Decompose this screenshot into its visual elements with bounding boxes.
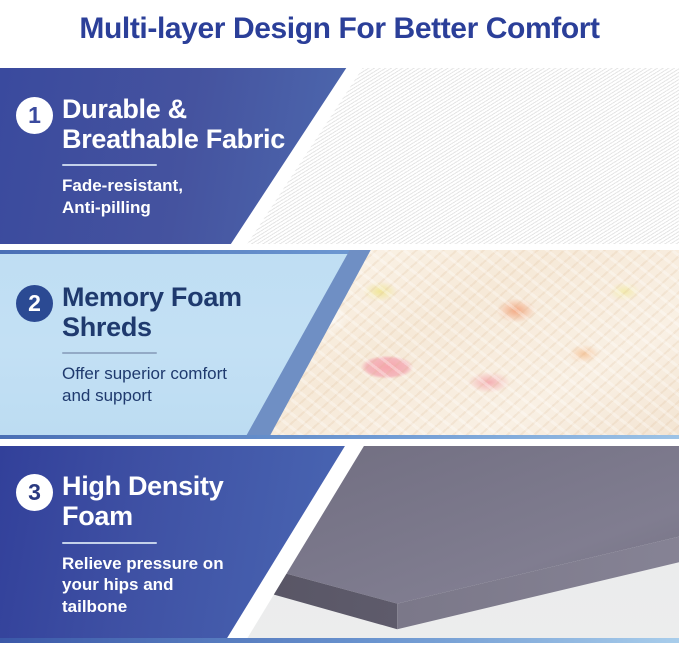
panel-3-subtext-line-3: tailbone [62, 596, 326, 618]
panel-3-text-block: 3 High Density Foam Relieve pressure on … [16, 446, 326, 643]
panel-2-heading-row: 2 Memory Foam Shreds [16, 282, 326, 342]
panel-3-divider [62, 542, 157, 544]
step-number-badge-2: 2 [16, 285, 53, 322]
panel-1-text-block: 1 Durable & Breathable Fabric Fade-resis… [16, 68, 326, 244]
feature-panel-2: 2 Memory Foam Shreds Offer superior comf… [0, 250, 679, 439]
panel-3-heading-line-2: Foam [62, 501, 223, 531]
panel-3-heading-row: 3 High Density Foam [16, 471, 326, 531]
panel-2-subtext-line-2: and support [62, 385, 326, 407]
panel-2-heading-line-1: Memory Foam [62, 282, 242, 312]
panel-3-bottom-rule [0, 638, 679, 643]
panel-2-heading-line-2: Shreds [62, 312, 242, 342]
panel-2-heading: Memory Foam Shreds [62, 282, 242, 342]
panel-3-heading: High Density Foam [62, 471, 223, 531]
panel-1-heading: Durable & Breathable Fabric [62, 94, 285, 154]
feature-panel-3: 3 High Density Foam Relieve pressure on … [0, 446, 679, 643]
feature-panel-1: 1 Durable & Breathable Fabric Fade-resis… [0, 68, 679, 244]
panel-1-heading-row: 1 Durable & Breathable Fabric [16, 94, 326, 154]
panel-2-subtext: Offer superior comfort and support [62, 363, 326, 407]
panel-3-subtext-line-1: Relieve pressure on [62, 553, 326, 575]
panel-1-heading-line-2: Breathable Fabric [62, 124, 285, 154]
panel-2-subtext-line-1: Offer superior comfort [62, 363, 326, 385]
panel-3-subtext-line-2: your hips and [62, 574, 326, 596]
panel-1-subtext-line-2: Anti-pilling [62, 197, 326, 219]
panel-1-subtext-line-1: Fade-resistant, [62, 175, 326, 197]
panel-1-divider [62, 164, 157, 166]
infographic-root: Multi-layer Design For Better Comfort 1 … [0, 0, 679, 650]
panel-2-text-block: 2 Memory Foam Shreds Offer superior comf… [16, 250, 326, 439]
panel-1-heading-line-1: Durable & [62, 94, 285, 124]
panel-2-divider [62, 352, 157, 354]
panel-2-bottom-rule [0, 435, 679, 439]
panel-3-heading-line-1: High Density [62, 471, 223, 501]
page-title-bar: Multi-layer Design For Better Comfort [0, 0, 679, 58]
step-number-badge-1: 1 [16, 97, 53, 134]
panel-3-subtext: Relieve pressure on your hips and tailbo… [62, 553, 326, 618]
panel-1-subtext: Fade-resistant, Anti-pilling [62, 175, 326, 219]
step-number-badge-3: 3 [16, 474, 53, 511]
page-title: Multi-layer Design For Better Comfort [79, 12, 599, 46]
